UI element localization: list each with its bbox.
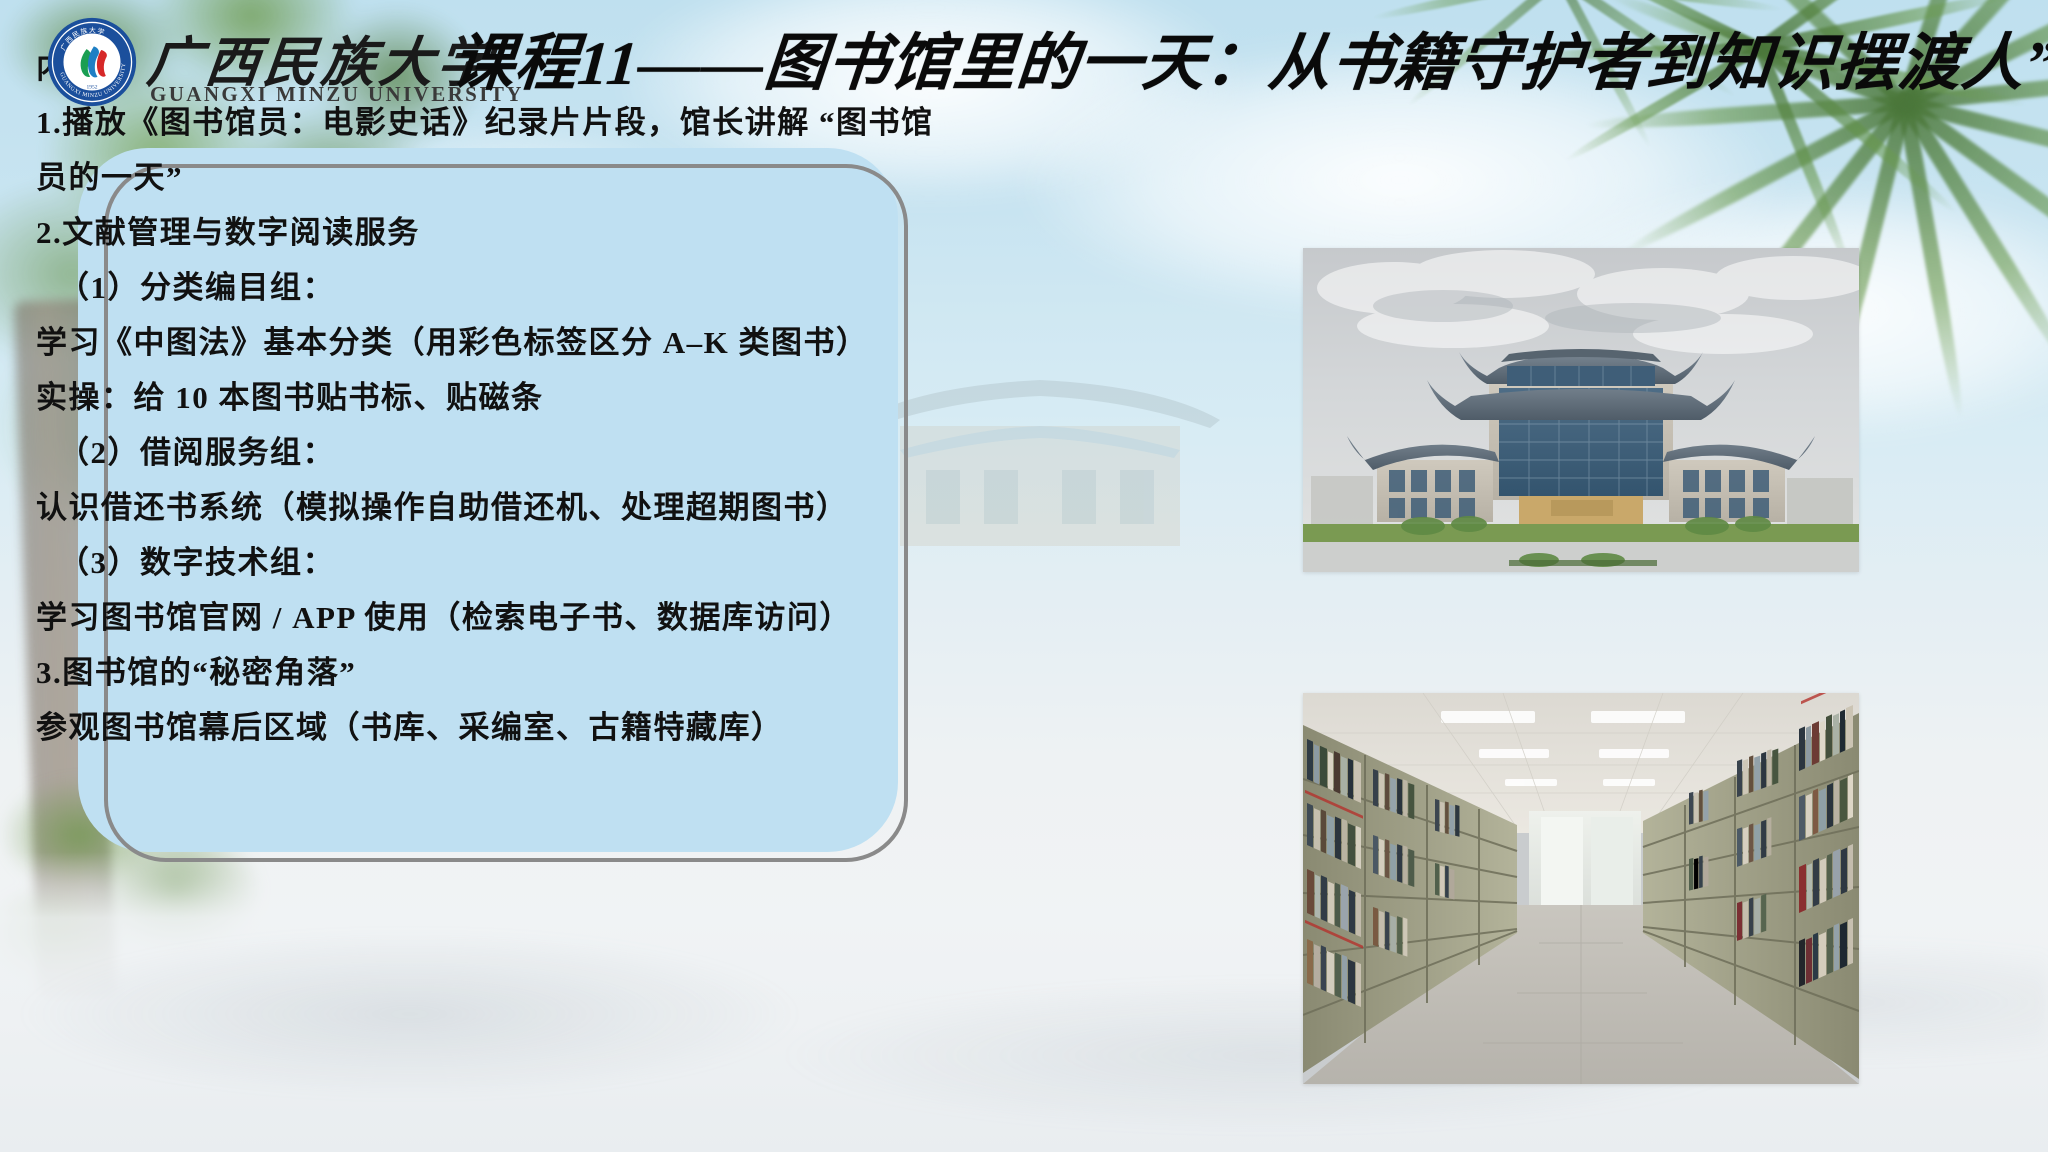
slide-root: 广西民族大学 GUANGXI MINZU UNIVERSITY 1952 广西民… bbox=[0, 0, 2048, 1152]
content-line: 3.图书馆的“秘密角落” bbox=[36, 645, 806, 700]
content-line: （2）借阅服务组： bbox=[36, 425, 806, 480]
page-title: 课程11——图书馆里的一天：从书籍守护者到知识摆渡人” bbox=[448, 22, 2035, 106]
content-line: 认识借还书系统（模拟操作自助借还机、处理超期图书） bbox=[36, 480, 806, 535]
slide-header: 广西民族大学 GUANGXI MINZU UNIVERSITY 1952 广西民… bbox=[0, 0, 2048, 120]
content-line: （3）数字技术组： bbox=[36, 535, 806, 590]
svg-text:1952: 1952 bbox=[86, 85, 97, 91]
content-line: 员的一天” bbox=[36, 150, 806, 205]
book-stacks-photo bbox=[1303, 693, 1859, 1084]
university-wordmark: 广西民族大学 GUANGXI MINZU UNIVERSITY bbox=[148, 18, 448, 110]
content-line: 学习《中图法》基本分类（用彩色标签区分 A–K 类图书） bbox=[36, 315, 806, 370]
library-building-illustration: 厚德博学 和而不同 bbox=[1303, 248, 1859, 572]
content-line: （1）分类编目组： bbox=[36, 260, 806, 315]
content-card-body: 内容： 1.播放《图书馆员：电影史话》纪录片片段，馆长讲解 “图书馆 员的一天”… bbox=[36, 40, 806, 755]
content-line: 参观图书馆幕后区域（书库、采编室、古籍特藏库） bbox=[36, 700, 806, 755]
content-line: 2.文献管理与数字阅读服务 bbox=[36, 205, 806, 260]
book-stacks-illustration bbox=[1303, 693, 1859, 1084]
content-line: 实操：给 10 本图书贴书标、贴磁条 bbox=[36, 370, 806, 425]
gxmzu-seal-icon: 广西民族大学 GUANGXI MINZU UNIVERSITY 1952 bbox=[46, 16, 138, 108]
content-line: 学习图书馆官网 / APP 使用（检索电子书、数据库访问） bbox=[36, 590, 806, 645]
library-building-photo: 厚德博学 和而不同 bbox=[1303, 248, 1859, 572]
